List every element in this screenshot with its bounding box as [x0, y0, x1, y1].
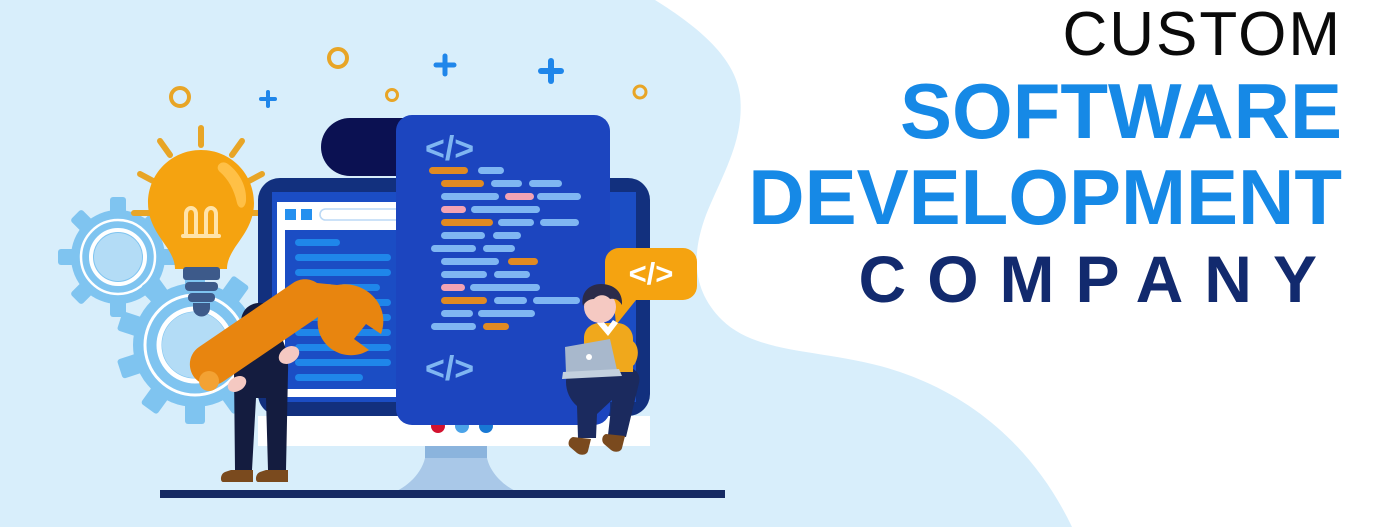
- headline-block: CUSTOM SOFTWARE DEVELOPMENT COMPANY: [642, 4, 1342, 312]
- code-line-segment: [441, 193, 499, 200]
- code-line-segment: [498, 219, 534, 226]
- code-line-segment: [508, 258, 538, 265]
- code-line-segment: [441, 180, 484, 187]
- deco-circle-orange-1: [171, 88, 189, 106]
- code-line-segment: [540, 219, 579, 226]
- lightbulb-screw-1: [185, 282, 218, 291]
- code-line-segment: [493, 232, 521, 239]
- code-line-segment: [441, 258, 499, 265]
- code-line-segment: [478, 310, 535, 317]
- code-line-segment: [441, 206, 466, 213]
- person-standing-shoe-right: [256, 470, 288, 482]
- person-standing-shoe-left: [221, 470, 253, 482]
- code-line-segment: [431, 245, 476, 252]
- monitor-stand-neck: [425, 446, 487, 458]
- browser-button-1[interactable]: [285, 209, 296, 220]
- code-line-segment: [505, 193, 534, 200]
- headline-line-custom: CUSTOM: [642, 4, 1342, 66]
- ground-line: [160, 490, 725, 498]
- code-line-segment: [429, 167, 468, 174]
- monitor-stand-base: [389, 458, 523, 494]
- lightbulb-screw-2: [188, 293, 215, 302]
- code-line-segment: [431, 323, 476, 330]
- lightbulb-collar: [183, 267, 220, 280]
- decoration-group: [171, 49, 646, 106]
- code-line-segment: [491, 180, 522, 187]
- code-line-segment: [441, 297, 487, 304]
- code-line-segment: [529, 180, 562, 187]
- code-panel-top-tag: </>: [425, 130, 474, 168]
- code-line-segment: [478, 167, 504, 174]
- deco-plus-blue-3: [541, 61, 561, 81]
- code-line-segment: [441, 232, 485, 239]
- browser-button-2[interactable]: [301, 209, 312, 220]
- code-line-segment: [483, 323, 509, 330]
- code-line-segment: [483, 245, 515, 252]
- code-line-segment: [537, 193, 581, 200]
- deco-circle-orange-3: [387, 90, 398, 101]
- code-line-segment: [470, 284, 540, 291]
- code-line-segment: [533, 297, 580, 304]
- code-line-segment: [441, 310, 473, 317]
- code-line-segment: [441, 219, 493, 226]
- headline-line-development: DEVELOPMENT: [642, 158, 1342, 236]
- code-line-segment: [441, 271, 487, 278]
- code-line-segment: [494, 297, 527, 304]
- headline-line-software: SOFTWARE: [642, 72, 1342, 150]
- code-line-segment: [441, 284, 465, 291]
- code-line-segment: [471, 206, 540, 213]
- banner-root: </> </> </>: [0, 0, 1400, 527]
- deco-circle-orange-2: [329, 49, 347, 67]
- deco-plus-blue-2: [436, 56, 454, 74]
- headline-line-company: COMPANY: [642, 246, 1342, 312]
- laptop-logo: [586, 354, 592, 360]
- deco-plus-blue-1: [261, 92, 275, 106]
- person-sitting-shoe-right: [602, 434, 625, 452]
- code-panel-bottom-tag: </>: [425, 350, 474, 388]
- code-line-segment: [494, 271, 530, 278]
- person-sitting-shoe-left: [569, 437, 591, 455]
